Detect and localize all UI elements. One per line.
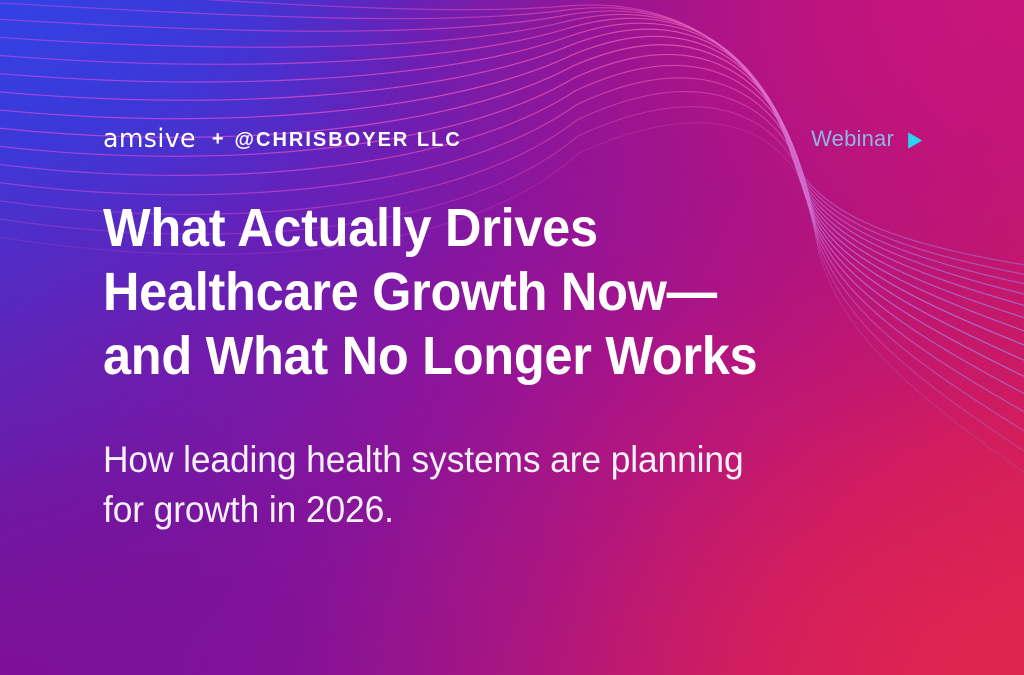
page-title: What Actually Drives Healthcare Growth N… [103, 196, 814, 388]
webinar-promo-banner: amsive + @CHRISBOYER LLC Webinar What Ac… [0, 0, 1024, 675]
eyebrow-row: amsive + @CHRISBOYER LLC Webinar [103, 122, 924, 156]
brand-lockup: amsive + @CHRISBOYER LLC [103, 126, 462, 152]
webinar-label: Webinar [811, 128, 894, 150]
headline-line-3: and What No Longer Works [103, 324, 814, 388]
brand-connector-plus: + [212, 129, 224, 149]
webinar-tag: Webinar [811, 128, 924, 150]
subtitle-line-2: for growth in 2026. [103, 485, 886, 535]
amsive-logo-wordmark: amsive [103, 126, 196, 152]
headline-line-1: What Actually Drives [103, 196, 814, 260]
play-triangle-icon [906, 131, 924, 150]
page-subtitle: How leading health systems are planning … [103, 435, 886, 535]
partner-name-chrisboyer-llc: @CHRISBOYER LLC [235, 130, 462, 150]
headline-line-2: Healthcare Growth Now— [103, 260, 814, 324]
subtitle-line-1: How leading health systems are planning [103, 435, 886, 485]
banner-content: amsive + @CHRISBOYER LLC Webinar What Ac… [0, 0, 1024, 675]
